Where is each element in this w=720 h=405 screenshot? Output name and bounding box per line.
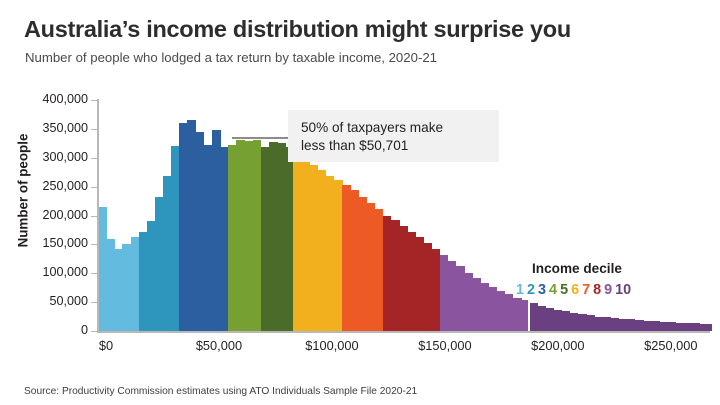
x-axis-tick-label: $150,000: [418, 338, 471, 353]
y-axis-tick-label: 150,000: [42, 236, 88, 250]
legend-item-decile-8: 8: [593, 282, 601, 298]
chart-title: Australia’s income distribution might su…: [24, 16, 571, 43]
annotation-text: 50% of taxpayers make less than $50,701: [301, 119, 499, 154]
legend-item-decile-2: 2: [527, 282, 535, 298]
y-axis-line: [97, 99, 99, 332]
y-axis-tick-mark: [91, 187, 97, 188]
y-axis-tick-label: 300,000: [42, 150, 88, 164]
legend-item-decile-4: 4: [549, 282, 557, 298]
legend-title: Income decile: [532, 261, 696, 276]
y-axis-tick-mark: [91, 244, 97, 245]
x-axis-tick-label: $0: [99, 338, 113, 353]
x-axis-tick-label: $250,000: [644, 338, 697, 353]
y-axis-tick-mark: [91, 158, 97, 159]
y-axis-tick-mark: [91, 302, 97, 303]
legend-item-decile-3: 3: [538, 282, 546, 298]
x-axis-tick-label: $200,000: [531, 338, 584, 353]
histogram-bar: [700, 324, 712, 332]
y-axis-tick-mark: [91, 331, 97, 332]
x-axis-line: [97, 331, 710, 333]
y-axis-tick-label: 100,000: [42, 265, 88, 279]
y-axis-tick-label: 250,000: [42, 179, 88, 193]
y-axis-tick-mark: [91, 129, 97, 130]
x-axis-tick-label: $50,000: [196, 338, 242, 353]
legend-item-decile-7: 7: [582, 282, 590, 298]
y-axis-tick-mark: [91, 273, 97, 274]
source-note: Source: Productivity Commission estimate…: [24, 386, 417, 397]
legend-item-decile-9: 9: [604, 282, 612, 298]
legend-item-decile-1: 1: [516, 282, 524, 298]
legend-items: 12345678910: [516, 282, 696, 298]
x-axis-tick-label: $100,000: [305, 338, 358, 353]
y-axis-tick-mark: [91, 100, 97, 101]
y-axis-tick-label: 200,000: [42, 208, 88, 222]
legend: Income decile 12345678910: [516, 261, 696, 298]
y-axis-tick-label: 0: [81, 323, 88, 337]
annotation-box: 50% of taxpayers make less than $50,701: [288, 110, 499, 162]
annotation-leader-line: [232, 137, 289, 139]
y-axis-tick-labels: 050,000100,000150,000200,000250,000300,0…: [0, 0, 88, 405]
chart-container: Australia’s income distribution might su…: [0, 0, 720, 405]
legend-item-decile-10: 10: [615, 282, 631, 298]
y-axis-tick-mark: [91, 216, 97, 217]
y-axis-tick-label: 50,000: [49, 294, 88, 308]
y-axis-title: Number of people: [16, 101, 31, 281]
legend-item-decile-5: 5: [560, 282, 568, 298]
y-axis-tick-label: 400,000: [42, 92, 88, 106]
y-axis-tick-label: 350,000: [42, 121, 88, 135]
legend-item-decile-6: 6: [571, 282, 579, 298]
